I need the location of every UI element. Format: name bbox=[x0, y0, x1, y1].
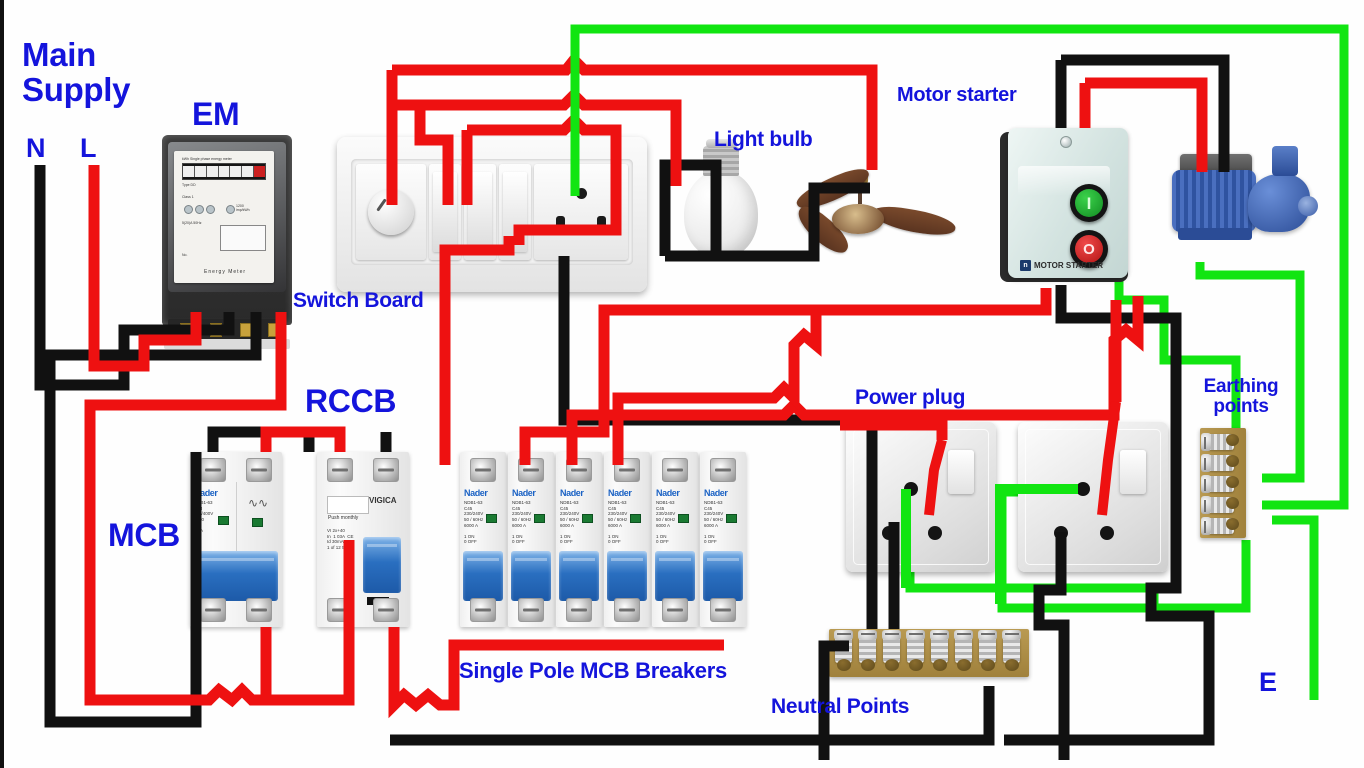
earthing-busbar[interactable] bbox=[1200, 428, 1246, 538]
mcb-spec: NDB1-63 C63 230/400V 6000 3 1 kA 2 bbox=[194, 500, 213, 539]
breaker-toggle-handle[interactable] bbox=[559, 551, 599, 601]
pump-motor bbox=[1172, 170, 1256, 232]
bulb-glass: 9W bbox=[684, 170, 758, 258]
earth-terminal-label: E bbox=[1259, 668, 1277, 696]
rccb-test-label: Push monthly bbox=[328, 515, 358, 521]
breaker-brand: Nader bbox=[464, 488, 488, 498]
energy-meter-register bbox=[182, 163, 266, 180]
single-pole-breaker-6[interactable]: Nader NDB1-63 C45 230/240V 50 / 60Hz 600… bbox=[700, 452, 746, 627]
socket-neutral-pin bbox=[556, 216, 565, 229]
power-plug-1[interactable] bbox=[846, 422, 996, 572]
single-pole-breaker-5[interactable]: Nader NDB1-63 C45 230/240V 50 / 60Hz 600… bbox=[652, 452, 698, 627]
pump-assembly bbox=[1164, 140, 1319, 260]
breaker-top-terminal[interactable] bbox=[614, 458, 640, 482]
single-pole-breaker-3[interactable]: Nader NDB1-63 C45 230/240V 50 / 60Hz 600… bbox=[556, 452, 602, 627]
mcb-bottom-terminal-1[interactable] bbox=[200, 598, 226, 622]
rccb-label: RCCB bbox=[305, 385, 396, 419]
rocker-switch-icon[interactable] bbox=[503, 172, 527, 252]
single-pole-breaker-4[interactable]: Nader NDB1-63 C45 230/240V 50 / 60Hz 600… bbox=[604, 452, 650, 627]
energy-meter-body: kWh Single phase energy meter Type DD Cl… bbox=[162, 135, 292, 325]
motor-starter-enclosure: I O n MOTOR STARTER bbox=[1000, 128, 1132, 283]
breaker-bottom-terminal[interactable] bbox=[614, 598, 640, 622]
breaker-brand: Nader bbox=[656, 488, 680, 498]
wiring-diagram-canvas: kWh Single phase energy meter Type DD Cl… bbox=[0, 0, 1364, 768]
socket-module[interactable] bbox=[534, 164, 628, 260]
mcb-brand: Nader bbox=[194, 488, 218, 498]
start-button[interactable]: I bbox=[1070, 184, 1108, 222]
breaker-spec: NDB1-63 C45 230/240V 50 / 60Hz 6000 A 1 … bbox=[704, 500, 723, 545]
rccb-bottom-terminal-2[interactable] bbox=[373, 598, 399, 622]
water-pump bbox=[1164, 140, 1319, 260]
pump-outlet bbox=[1272, 146, 1298, 176]
neutral-busbar[interactable] bbox=[829, 629, 1029, 677]
breaker-bottom-terminal[interactable] bbox=[470, 598, 496, 622]
socket-switch[interactable] bbox=[948, 450, 974, 494]
socket-earth-pin bbox=[576, 188, 587, 199]
light-bulb-label: Light bulb bbox=[714, 129, 812, 151]
breaker-toggle-handle[interactable] bbox=[463, 551, 503, 601]
live-breaker-riser-3 bbox=[618, 312, 816, 465]
ceiling-fan bbox=[784, 170, 954, 270]
breaker-brand: Nader bbox=[512, 488, 536, 498]
breaker-brand: Nader bbox=[704, 488, 728, 498]
socket-earth-pin bbox=[904, 482, 918, 496]
rccb-top-terminal-1[interactable] bbox=[327, 458, 353, 482]
switch-board-label: Switch Board bbox=[293, 290, 424, 312]
single-pole-mcb-bank[interactable]: Nader NDB1-63 C45 230/240V 50 / 60Hz 600… bbox=[460, 452, 746, 627]
socket-neutral-pin bbox=[1054, 526, 1068, 540]
single-pole-breaker-1[interactable]: Nader NDB1-63 C45 230/240V 50 / 60Hz 600… bbox=[460, 452, 506, 627]
dimmer-knob-icon[interactable] bbox=[368, 189, 414, 235]
switch-board-plate bbox=[337, 137, 647, 292]
rccb-toggle-handle[interactable] bbox=[363, 537, 401, 593]
dimmer-module[interactable] bbox=[356, 164, 426, 260]
mcb-bottom-terminal-2[interactable] bbox=[246, 598, 272, 622]
stop-button-label: O bbox=[1083, 242, 1095, 257]
rccb-brand: VIGICA bbox=[369, 496, 397, 505]
starter-brand-badge: n bbox=[1020, 260, 1031, 271]
breaker-toggle-handle[interactable] bbox=[511, 551, 551, 601]
breaker-bottom-terminal[interactable] bbox=[566, 598, 592, 622]
switch-module-1[interactable] bbox=[429, 164, 461, 260]
socket-neutral-pin bbox=[882, 526, 896, 540]
breaker-top-terminal[interactable] bbox=[518, 458, 544, 482]
starter-lid-screw bbox=[1060, 136, 1072, 148]
earth-wire-bottom-right bbox=[1272, 520, 1314, 700]
pump-inlet bbox=[1298, 196, 1318, 216]
rccb-bottom-terminal-1[interactable] bbox=[327, 598, 353, 622]
power-plug-2[interactable] bbox=[1018, 422, 1168, 572]
fan-hub bbox=[832, 204, 884, 234]
rccb-unit[interactable]: Push monthly VIGICA VI 2x+40 In 1 03A CE… bbox=[317, 452, 409, 627]
mcb-toggle-handle[interactable] bbox=[194, 551, 278, 601]
neutral-mcb-top-to-left bbox=[213, 432, 309, 452]
breaker-bottom-terminal[interactable] bbox=[662, 598, 688, 622]
breaker-toggle-handle[interactable] bbox=[607, 551, 647, 601]
breaker-spec: NDB1-63 C45 230/240V 50 / 60Hz 6000 A 1 … bbox=[656, 500, 675, 545]
breaker-bottom-terminal[interactable] bbox=[710, 598, 736, 622]
mcb-top-terminal-1[interactable] bbox=[200, 458, 226, 482]
live-terminal-label: L bbox=[80, 134, 96, 162]
breaker-brand: Nader bbox=[560, 488, 584, 498]
rocker-switch-icon[interactable] bbox=[433, 172, 457, 252]
socket-faceplate bbox=[1018, 422, 1168, 572]
rccb-body: Push monthly VIGICA VI 2x+40 In 1 03A CE… bbox=[317, 452, 409, 627]
earthing-points-label: Earthing points bbox=[1196, 377, 1286, 417]
mcb-top-terminal-2[interactable] bbox=[246, 458, 272, 482]
breaker-spec: NDB1-63 C45 230/240V 50 / 60Hz 6000 A 1 … bbox=[608, 500, 627, 545]
socket-live-pin bbox=[1100, 526, 1114, 540]
single-pole-mcb-breakers-label: Single Pole MCB Breakers bbox=[459, 659, 727, 682]
energy-meter-terminal-block[interactable] bbox=[168, 319, 286, 341]
breaker-spec: NDB1-63 C45 230/240V 50 / 60Hz 6000 A 1 … bbox=[512, 500, 531, 545]
energy-meter[interactable]: kWh Single phase energy meter Type DD Cl… bbox=[162, 135, 292, 325]
rccb-spec: VI 2x+40 In 1 03A CE Id 30mA 1 of 12 50H bbox=[327, 528, 354, 551]
rccb-top-terminal-2[interactable] bbox=[373, 458, 399, 482]
mcb-double-pole[interactable]: Nader NDB1-63 C63 230/400V 6000 3 1 kA 2… bbox=[190, 452, 282, 627]
breaker-bottom-terminal[interactable] bbox=[518, 598, 544, 622]
switch-module-2[interactable] bbox=[464, 164, 496, 260]
socket-live-pin bbox=[597, 216, 606, 229]
live-mcb-to-rccb-link bbox=[266, 432, 340, 452]
motor-starter-nameplate: n MOTOR STARTER bbox=[1020, 259, 1116, 272]
breaker-top-terminal[interactable] bbox=[710, 458, 736, 482]
socket-switch[interactable] bbox=[1120, 450, 1146, 494]
motor-starter-label: Motor starter bbox=[897, 85, 1016, 106]
earthing-busbar-body bbox=[1200, 428, 1246, 538]
breaker-toggle-handle[interactable] bbox=[703, 551, 743, 601]
rocker-switch-icon[interactable] bbox=[468, 172, 492, 252]
rccb-test-button[interactable] bbox=[327, 496, 369, 514]
breaker-toggle-handle[interactable] bbox=[655, 551, 695, 601]
switch-module-3[interactable] bbox=[499, 164, 531, 260]
breaker-top-terminal[interactable] bbox=[662, 458, 688, 482]
breaker-top-terminal[interactable] bbox=[470, 458, 496, 482]
pump-base bbox=[1178, 228, 1252, 240]
start-button-label: I bbox=[1087, 195, 1092, 212]
single-pole-breaker-2[interactable]: Nader NDB1-63 C45 230/240V 50 / 60Hz 600… bbox=[508, 452, 554, 627]
socket-faceplate bbox=[846, 422, 996, 572]
motor-starter[interactable]: I O n MOTOR STARTER bbox=[1000, 128, 1132, 283]
mcb-label: MCB bbox=[108, 519, 180, 553]
breaker-top-terminal[interactable] bbox=[566, 458, 592, 482]
breaker-spec: NDB1-63 C45 230/240V 50 / 60Hz 6000 A 1 … bbox=[560, 500, 579, 545]
breaker-spec: NDB1-63 C45 230/240V 50 / 60Hz 6000 A 1 … bbox=[464, 500, 483, 545]
starter-plate-text: MOTOR STARTER bbox=[1034, 261, 1103, 270]
breaker-brand: Nader bbox=[608, 488, 632, 498]
energy-meter-faceplate: kWh Single phase energy meter Type DD Cl… bbox=[174, 151, 274, 283]
main-supply-label: Main Supply bbox=[22, 38, 130, 107]
neutral-busbar-body bbox=[829, 629, 1029, 677]
start-button-face: I bbox=[1075, 189, 1103, 217]
neutral-points-label: Neutral Points bbox=[771, 696, 909, 718]
switch-board[interactable] bbox=[337, 137, 647, 292]
energy-meter-base bbox=[164, 339, 290, 349]
socket-live-pin bbox=[928, 526, 942, 540]
power-plug-label: Power plug bbox=[855, 387, 965, 409]
energy-meter-nameplate bbox=[220, 225, 266, 251]
socket-earth-pin bbox=[1076, 482, 1090, 496]
switch-board-modules bbox=[351, 159, 633, 265]
neutral-terminal-label: N bbox=[26, 134, 45, 162]
energy-meter-label: EM bbox=[192, 98, 239, 132]
mcb-body: Nader NDB1-63 C63 230/400V 6000 3 1 kA 2… bbox=[190, 452, 282, 627]
